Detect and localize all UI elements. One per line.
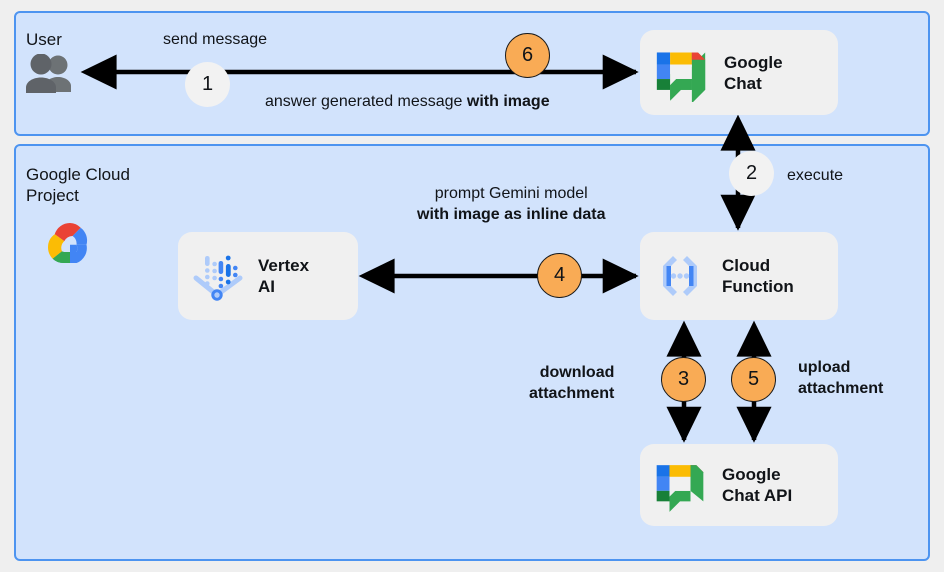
label-prompt-regular: prompt Gemini model [435, 185, 588, 202]
label-answer-generated-message: answer generated message with image [265, 91, 550, 112]
vertex-ai-logo [190, 248, 246, 304]
panel-user-title: User [26, 29, 62, 50]
card-cloud-function[interactable]: Cloud Function [640, 232, 838, 320]
card-google-chat-label: Google Chat [724, 52, 783, 94]
step-badge-2[interactable]: 2 [729, 151, 774, 196]
label-execute: execute [787, 165, 843, 186]
label-download-attachment: download attachment [529, 362, 614, 404]
google-cloud-logo [36, 219, 98, 280]
step-badge-3[interactable]: 3 [661, 357, 706, 402]
panel-gcp-title: Google Cloud Project [26, 164, 130, 206]
label-prompt-gemini: prompt Gemini modelwith image as inline … [417, 183, 606, 225]
card-vertex-ai-label: Vertex AI [258, 255, 309, 297]
card-vertex-ai[interactable]: Vertex AI [178, 232, 358, 320]
card-google-chat[interactable]: Google Chat [640, 30, 838, 115]
google-chat-logo [652, 44, 710, 102]
cloud-function-logo [652, 248, 708, 304]
step-badge-5[interactable]: 5 [731, 357, 776, 402]
step-badge-4[interactable]: 4 [537, 253, 582, 298]
card-cloud-function-label: Cloud Function [722, 255, 794, 297]
card-google-chat-api[interactable]: Google Chat API [640, 444, 838, 526]
label-answer-bold: with image [467, 93, 550, 110]
label-send-message: send message [163, 29, 267, 50]
diagram-canvas: User Google Cloud Project [0, 0, 944, 572]
step-badge-1[interactable]: 1 [185, 62, 230, 107]
card-google-chat-api-label: Google Chat API [722, 464, 792, 506]
users-group-icon [24, 54, 76, 99]
label-prompt-bold: with image as inline data [417, 206, 606, 223]
label-answer-regular: answer generated message [265, 93, 467, 110]
step-badge-6[interactable]: 6 [505, 33, 550, 78]
google-chat-logo [652, 457, 708, 513]
label-upload-attachment: upload attachment [798, 357, 883, 399]
